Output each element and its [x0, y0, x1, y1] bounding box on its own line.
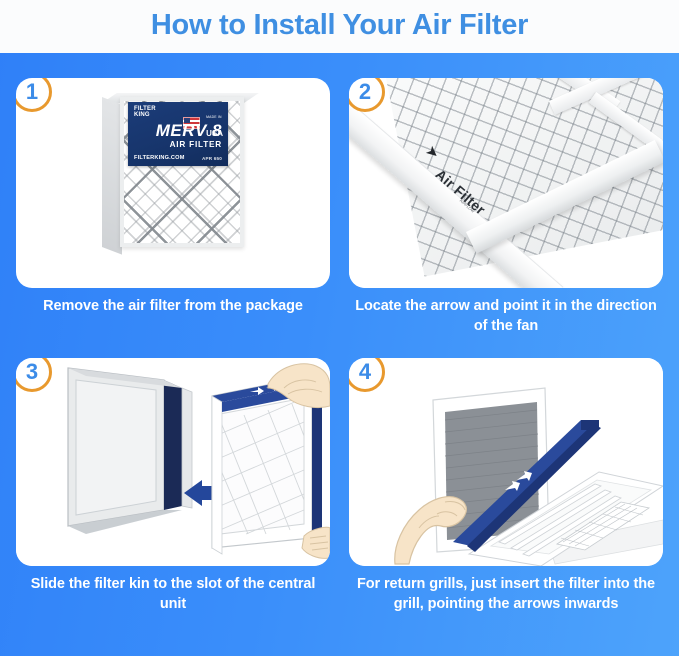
filter-product-label: FILTER KING MADE IN USA MERV 8 AIR FILTE…: [128, 102, 228, 166]
brand-website: FILTERKING.COM: [134, 155, 185, 161]
brand-name-line1: FILTER: [134, 106, 156, 112]
made-in-text: MADE IN: [206, 115, 222, 119]
merv-rating: MERV 8: [128, 122, 222, 139]
step-3-card: 3: [16, 358, 330, 566]
step-1: 1 FILTER KING MADE IN USA: [16, 78, 330, 317]
page-title: How to Install Your Air Filter: [151, 11, 528, 40]
air-filter-product-photo: FILTER KING MADE IN USA MERV 8 AIR FILTE…: [16, 78, 330, 288]
infographic-page: How to Install Your Air Filter 1 FILTER …: [0, 0, 679, 656]
filter-side-edge: [102, 97, 122, 255]
step-4-caption: For return grills, just insert the filte…: [349, 575, 663, 614]
step-2-caption: Locate the arrow and point it in the dir…: [349, 297, 663, 336]
step-3-caption: Slide the filter kin to the slot of the …: [16, 575, 330, 614]
step-1-caption: Remove the air filter from the package: [16, 297, 330, 317]
central-unit-housing: [68, 368, 192, 534]
header-bar: How to Install Your Air Filter: [0, 0, 679, 53]
apr-rating: APR 650: [202, 156, 222, 161]
step-4-card: 4: [349, 358, 663, 566]
step-2-card: 2 ➤ Air Filter AIRFLOW: [349, 78, 663, 288]
step-3: 3: [16, 358, 330, 614]
step-4: 4: [349, 358, 663, 614]
filter-sliding-into-unit-diagram: [16, 358, 330, 566]
brand-name-line2: KING: [134, 112, 150, 118]
step-2: 2 ➤ Air Filter AIRFLOW Locate the arrow …: [349, 78, 663, 336]
filter-inserted-into-return-grill-diagram: [349, 358, 663, 566]
air-filter-corner-photo: ➤ Air Filter AIRFLOW: [349, 78, 663, 288]
step-1-card: 1 FILTER KING MADE IN USA: [16, 78, 330, 288]
brand-logo: FILTER KING: [134, 106, 156, 119]
product-type: AIR FILTER: [128, 140, 222, 149]
